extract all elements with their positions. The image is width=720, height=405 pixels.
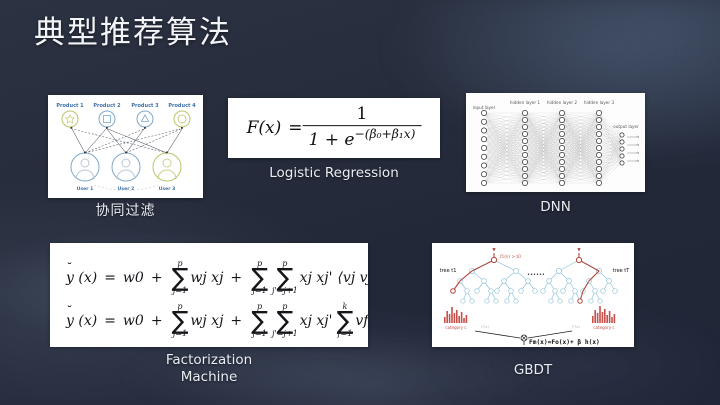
- gbdt-category-left: category c: [445, 325, 466, 330]
- dnn-node: [481, 154, 486, 159]
- root-arrow-icon: ▼: [492, 248, 496, 253]
- dnn-node: [522, 166, 527, 171]
- dnn-caption: DNN: [466, 199, 645, 216]
- summation-lower: j'=j+1: [272, 330, 298, 338]
- fm-inner-product: ⟨vj vj'⟩: [337, 270, 368, 286]
- dnn-node: [596, 131, 601, 136]
- dnn-node: [522, 152, 527, 157]
- dnn-node: [522, 117, 527, 122]
- fm-sum1-body: wj xj: [190, 270, 223, 286]
- fm-equation-line-1: y (x) = w0 + p ∑ j=1 wj xj + p ∑ j=1 p ∑…: [66, 260, 368, 295]
- equation-equals: =: [288, 118, 302, 138]
- logistic-regression-equation: F(x) = 1 1 + e−(β₀+β₁x): [247, 106, 422, 150]
- user-label: User 1: [77, 186, 94, 192]
- dnn-node: [559, 124, 564, 129]
- fm-sum1-body: wj xj: [190, 313, 223, 329]
- dnn-node: [522, 180, 527, 185]
- gbdt-diagram: ▼ f1(v) > t0 tree t1: [432, 243, 634, 347]
- dnn-node: [596, 124, 601, 129]
- summation-symbol: ∑: [276, 267, 293, 288]
- summation-symbol: ∑: [276, 310, 293, 331]
- logistic-regression-caption: Logistic Regression: [228, 165, 440, 182]
- dnn-node: [559, 152, 564, 157]
- collaborative-filtering-caption: 协同过滤: [48, 203, 203, 220]
- dnn-node: [596, 159, 601, 164]
- denominator-base: 1 + e: [309, 130, 355, 150]
- summation-symbol: ∑: [336, 310, 353, 331]
- fm-summation: p ∑ j'=j+1: [272, 303, 298, 338]
- fm-summation: p ∑ j=1: [172, 303, 189, 338]
- dnn-node: [481, 145, 486, 150]
- gbdt-tree-left-label: tree t1: [440, 268, 457, 274]
- layer-label: output layer: [613, 124, 639, 129]
- dnn-node: [596, 145, 601, 150]
- dnn-node: [596, 110, 601, 115]
- denominator-exponent: −(β₀+β₁x): [354, 127, 415, 141]
- dnn-node: [596, 180, 601, 185]
- slide-canvas: 典型推荐算法 Product 1 Product 2 Product 3 Pro…: [0, 0, 720, 405]
- fm-plus: +: [151, 313, 163, 329]
- fm-tail: vf,j vf,j': [355, 313, 368, 329]
- gbdt-split-condition: f1(v) > t0: [500, 255, 521, 260]
- fm-lhs: y (x): [66, 313, 97, 329]
- collaborative-filtering-image: Product 1 Product 2 Product 3 Product 4 …: [48, 95, 203, 198]
- dnn-node: [481, 180, 486, 185]
- fm-equation-line-2: y (x) = w0 + p ∑ j=1 wj xj + p ∑ j=1 p ∑…: [66, 303, 368, 338]
- dnn-node: [481, 119, 486, 124]
- product-label: Product 2: [93, 103, 121, 109]
- dnn-node: [522, 131, 527, 136]
- summation-symbol: ∑: [251, 267, 268, 288]
- dnn-node: [481, 163, 486, 168]
- dnn-node: [559, 117, 564, 122]
- dnn-node: [620, 133, 624, 137]
- dnn-node: [559, 145, 564, 150]
- fm-equals: =: [104, 313, 116, 329]
- fm-equals: =: [104, 270, 116, 286]
- dnn-image: input layer hidden layer 1 hidden layer …: [466, 93, 645, 192]
- equation-fraction: 1 1 + e−(β₀+β₁x): [303, 106, 422, 150]
- dnn-node: [559, 110, 564, 115]
- dnn-node: [559, 166, 564, 171]
- dnn-node: [620, 161, 624, 165]
- layer-label: hidden layer 2: [547, 100, 578, 105]
- layer-label: hidden layer 1: [510, 100, 541, 105]
- gbdt-caption: GBDT: [432, 362, 634, 379]
- fm-w0: w0: [123, 270, 144, 286]
- fraction-numerator: 1: [349, 106, 376, 125]
- gbdt-tree-right-label: tree tT: [613, 268, 631, 274]
- dnn-diagram: input layer hidden layer 1 hidden layer …: [466, 93, 645, 192]
- gbdt-prob-left: P(x): [481, 324, 490, 329]
- gbdt-category-right: category c: [593, 325, 614, 330]
- dnn-node: [481, 110, 486, 115]
- dnn-node: [559, 173, 564, 178]
- dnn-node: [596, 117, 601, 122]
- dnn-node: [559, 131, 564, 136]
- logistic-regression-image: F(x) = 1 1 + e−(β₀+β₁x): [228, 98, 440, 158]
- dnn-node: [596, 152, 601, 157]
- dnn-node: [522, 145, 527, 150]
- dnn-node: [596, 138, 601, 143]
- gbdt-output-equation: Fm(x)=Fo(x)+ β h(x): [529, 339, 600, 346]
- root-arrow-icon: ▼: [577, 248, 581, 253]
- gbdt-ellipsis: ••••••: [527, 272, 545, 278]
- summation-lower: j=1: [252, 287, 266, 295]
- factorization-machine-caption: Factorization Machine: [50, 352, 368, 386]
- dnn-node: [522, 138, 527, 143]
- fm-summation: p ∑ j=1: [251, 260, 268, 295]
- layer-label: hidden layer 3: [584, 100, 615, 105]
- user-label: User 3: [159, 186, 176, 192]
- summation-lower: j=1: [173, 330, 187, 338]
- fm-plus: +: [151, 270, 163, 286]
- fm-summation: k ∑ f=1: [336, 303, 353, 338]
- dnn-node: [522, 110, 527, 115]
- summation-lower: j=1: [252, 330, 266, 338]
- product-label: Product 3: [131, 103, 159, 109]
- collaborative-filtering-diagram: Product 1 Product 2 Product 3 Product 4 …: [48, 95, 203, 198]
- fm-w0: w0: [123, 313, 144, 329]
- gbdt-image: ▼ f1(v) > t0 tree t1: [432, 243, 634, 347]
- dnn-node: [596, 173, 601, 178]
- dnn-node: [522, 173, 527, 178]
- gbdt-prob-right: P(x): [572, 324, 581, 329]
- dnn-node: [559, 180, 564, 185]
- summation-lower: f=1: [338, 330, 353, 338]
- slide-title: 典型推荐算法: [34, 13, 232, 53]
- user-label: User 2: [118, 186, 135, 192]
- summation-symbol: ∑: [251, 310, 268, 331]
- dnn-node: [481, 128, 486, 133]
- fm-body: xj xj': [300, 313, 333, 329]
- summation-lower: j=1: [173, 287, 187, 295]
- dnn-node: [559, 138, 564, 143]
- dnn-node: [559, 159, 564, 164]
- fm-body: xj xj': [300, 270, 333, 286]
- equation-lhs: F(x): [247, 118, 282, 138]
- summation-symbol: ∑: [172, 310, 189, 331]
- dnn-node: [620, 140, 624, 144]
- fm-plus: +: [230, 313, 242, 329]
- fm-summation: p ∑ j=1: [172, 260, 189, 295]
- product-label: Product 4: [168, 103, 196, 109]
- dnn-node: [522, 124, 527, 129]
- product-label: Product 1: [56, 103, 84, 109]
- fm-summation: p ∑ j'=j+1: [272, 260, 298, 295]
- fm-plus: +: [230, 270, 242, 286]
- fm-summation: p ∑ j=1: [251, 303, 268, 338]
- dnn-node: [620, 154, 624, 158]
- dnn-node: [596, 166, 601, 171]
- dnn-node: [481, 172, 486, 177]
- factorization-machine-image: y (x) = w0 + p ∑ j=1 wj xj + p ∑ j=1 p ∑…: [50, 243, 368, 347]
- fraction-denominator: 1 + e−(β₀+β₁x): [303, 126, 422, 150]
- fm-lhs: y (x): [66, 270, 97, 286]
- dnn-node: [481, 137, 486, 142]
- dnn-node: [620, 147, 624, 151]
- summation-lower: j'=j+1: [272, 287, 298, 295]
- summation-symbol: ∑: [172, 267, 189, 288]
- layer-label: input layer: [473, 105, 496, 110]
- dnn-node: [522, 159, 527, 164]
